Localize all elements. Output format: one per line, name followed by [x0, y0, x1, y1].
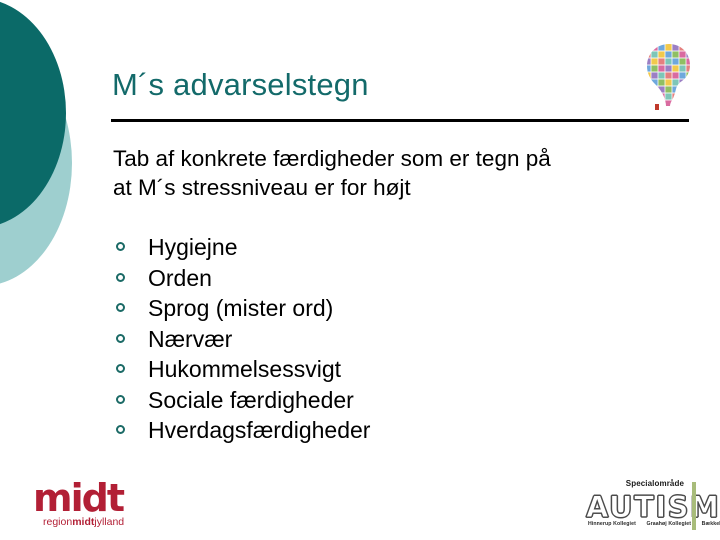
list-item-label: Sociale færdigheder	[148, 387, 354, 413]
slide-canvas: M´s advarselstegn Tab af konkrete færdig…	[0, 0, 720, 540]
puzzle-head-icon	[638, 42, 700, 112]
list-item-label: Hukommelsessvigt	[148, 356, 341, 382]
list-item: Sprog (mister ord)	[112, 293, 592, 324]
bullet-circle-icon	[116, 395, 125, 404]
intro-line-1: Tab af konkrete færdigheder som er tegn …	[113, 144, 698, 173]
autisme-wordmark: AUTISME	[586, 490, 720, 524]
intro-paragraph: Tab af konkrete færdigheder som er tegn …	[113, 144, 698, 202]
bullet-circle-icon	[116, 273, 125, 282]
region-midtjylland-logo: midt regionmidtjylland	[33, 481, 155, 531]
page-title: M´s advarselstegn	[112, 67, 632, 103]
list-item: Hverdagsfærdigheder	[112, 415, 592, 446]
list-item-label: Orden	[148, 265, 212, 291]
list-item: Orden	[112, 263, 592, 294]
list-item-label: Nærvær	[148, 326, 232, 352]
list-item: Nærvær	[112, 324, 592, 355]
midt-wordmark: midt	[33, 481, 155, 515]
list-item-label: Sprog (mister ord)	[148, 295, 333, 321]
autisme-kicker: Specialområde	[626, 479, 684, 488]
autisme-partner-1: Hinnerup Kollegiet	[588, 521, 636, 527]
midt-sub-suffix: jylland	[94, 516, 124, 528]
title-divider-rule	[111, 119, 689, 122]
midt-subline: regionmidtjylland	[43, 516, 155, 528]
bullet-circle-icon	[116, 425, 125, 434]
autisme-partner-3: Bækkelund	[702, 521, 720, 527]
bullet-circle-icon	[116, 334, 125, 343]
autisme-partners: Hinnerup Kollegiet Graahøj Kollegiet Bæk…	[588, 521, 720, 527]
list-item: Sociale færdigheder	[112, 385, 592, 416]
autisme-accent-bar	[692, 482, 696, 530]
autisme-logo: Specialområde AUTISME Hinnerup Kollegiet…	[586, 479, 696, 531]
midt-sub-prefix: region	[43, 516, 72, 528]
warning-signs-list: Hygiejne Orden Sprog (mister ord) Nærvær…	[112, 232, 592, 446]
list-item-label: Hverdagsfærdigheder	[148, 417, 370, 443]
bullet-circle-icon	[116, 242, 125, 251]
autisme-partner-2: Graahøj Kollegiet	[646, 521, 691, 527]
intro-line-2: at M´s stressniveau er for højt	[113, 173, 698, 202]
list-item: Hukommelsessvigt	[112, 354, 592, 385]
bullet-circle-icon	[116, 364, 125, 373]
list-item-label: Hygiejne	[148, 234, 238, 260]
bullet-circle-icon	[116, 303, 125, 312]
midt-sub-bold: midt	[72, 516, 94, 528]
list-item: Hygiejne	[112, 232, 592, 263]
